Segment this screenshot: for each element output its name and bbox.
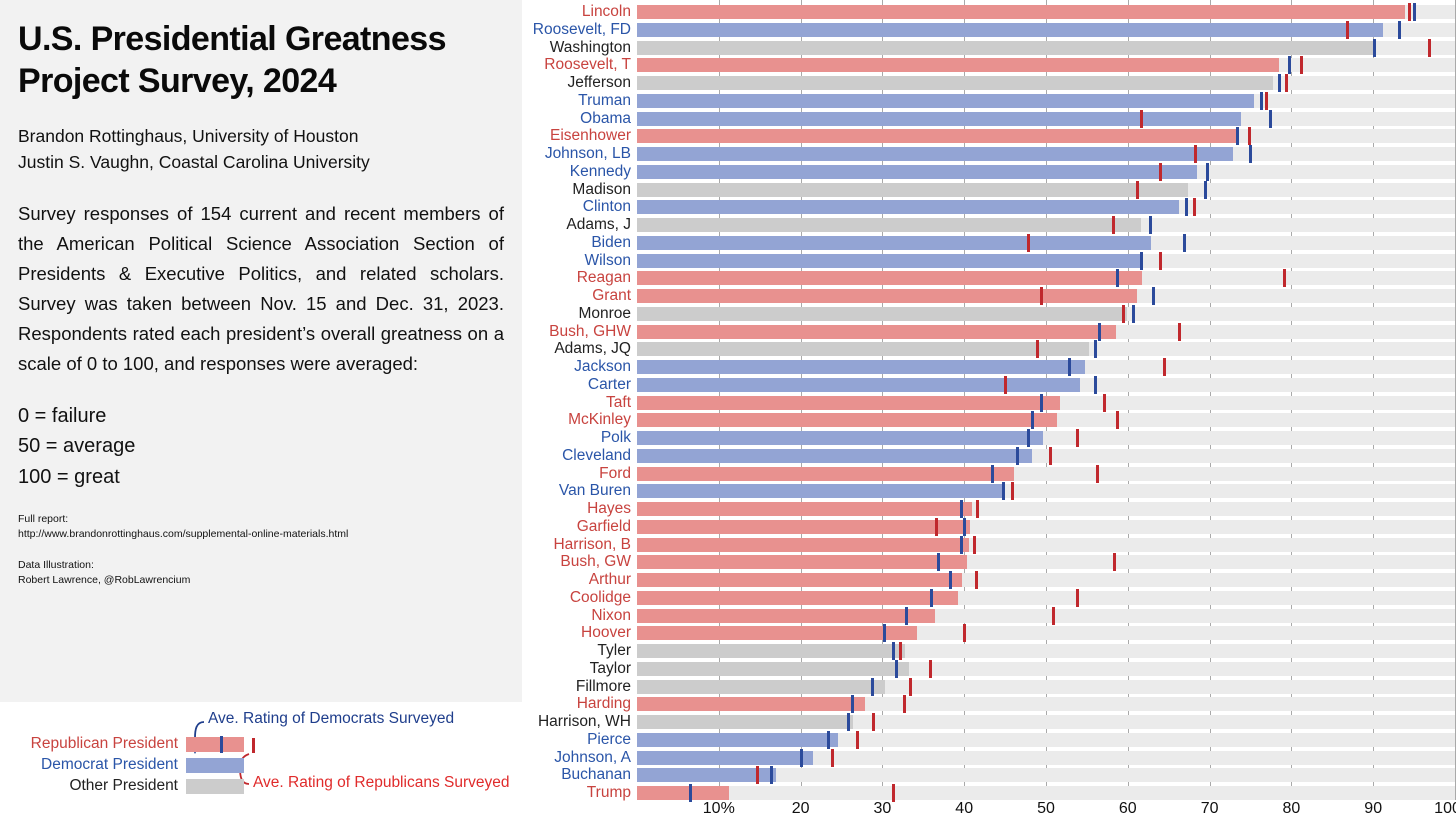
republican-average-tick [976, 500, 979, 518]
democrat-average-tick [1236, 127, 1239, 145]
republican-average-tick [1408, 3, 1411, 21]
x-axis: 10%2030405060708090100 [522, 800, 1456, 819]
overall-rating-bar [637, 715, 853, 729]
table-row[interactable]: Bush, GHW [522, 323, 1456, 341]
democrat-average-tick [1116, 269, 1119, 287]
democrat-average-tick [892, 642, 895, 660]
row-label-adams-j: Adams, J [437, 216, 637, 234]
overall-rating-bar [637, 697, 865, 711]
row-label-hayes: Hayes [437, 500, 637, 518]
overall-rating-bar [637, 431, 1043, 445]
democrat-average-tick [847, 713, 850, 731]
republican-average-tick [1265, 92, 1268, 110]
overall-rating-bar [637, 786, 729, 800]
democrat-average-tick [1031, 411, 1034, 429]
overall-rating-bar [637, 733, 838, 747]
full-report-note: Full report: http://www.brandonrottingha… [18, 512, 504, 542]
overall-rating-bar [637, 609, 935, 623]
row-label-madison: Madison [437, 181, 637, 199]
x-axis-tick-label: 20 [792, 800, 810, 818]
overall-rating-bar [637, 147, 1233, 161]
table-row[interactable]: Polk [522, 429, 1456, 447]
table-row[interactable]: Roosevelt, T [522, 56, 1456, 74]
overall-rating-bar [637, 342, 1089, 356]
overall-rating-bar [637, 680, 885, 694]
row-label-adams-jq: Adams, JQ [437, 340, 637, 358]
republican-average-tick [1076, 429, 1079, 447]
legend-label-republican: Republican President [14, 735, 186, 753]
row-label-nixon: Nixon [437, 607, 637, 625]
row-label-fillmore: Fillmore [437, 678, 637, 696]
overall-rating-bar [637, 218, 1141, 232]
row-label-taylor: Taylor [437, 660, 637, 678]
republican-average-tick [929, 660, 932, 678]
democrat-average-tick [1398, 21, 1401, 39]
democrat-average-tick [1149, 216, 1152, 234]
legend-label-democrat: Democrat President [14, 756, 186, 774]
row-label-bush-ghw: Bush, GHW [437, 323, 637, 341]
democrat-average-tick [1269, 110, 1272, 128]
row-label-johnson-lb: Johnson, LB [437, 145, 637, 163]
overall-rating-bar [637, 58, 1279, 72]
table-row[interactable]: Harding [522, 695, 1456, 713]
overall-rating-bar [637, 751, 813, 765]
row-label-biden: Biden [437, 234, 637, 252]
table-row[interactable]: McKinley [522, 411, 1456, 429]
overall-rating-bar [637, 94, 1254, 108]
row-label-buchanan: Buchanan [437, 766, 637, 784]
democrat-average-tick [883, 624, 886, 642]
scale-item-great: 100 = great [18, 462, 504, 492]
republican-average-tick [1049, 447, 1052, 465]
row-label-truman: Truman [437, 92, 637, 110]
republican-average-tick [1136, 181, 1139, 199]
row-label-obama: Obama [437, 110, 637, 128]
x-axis-tick-label: 90 [1364, 800, 1382, 818]
overall-rating-bar [637, 5, 1405, 19]
table-row[interactable]: Wilson [522, 252, 1456, 270]
illustration-note: Data Illustration: Robert Lawrence, @Rob… [18, 558, 504, 588]
row-label-roosevelt-t: Roosevelt, T [437, 56, 637, 74]
democrat-average-tick [1002, 482, 1005, 500]
republican-average-tick [1122, 305, 1125, 323]
republican-average-tick [1159, 252, 1162, 270]
row-label-pierce: Pierce [437, 731, 637, 749]
overall-rating-bar [637, 307, 1127, 321]
x-axis-tick-label: 10% [703, 800, 735, 818]
row-label-harding: Harding [437, 695, 637, 713]
legend-label-other: Other President [14, 777, 186, 795]
overall-rating-bar [637, 41, 1374, 55]
republican-average-tick [1300, 56, 1303, 74]
democrat-average-tick [1016, 447, 1019, 465]
overall-rating-bar [637, 325, 1116, 339]
overall-rating-bar [637, 289, 1137, 303]
bar-rows: LincolnRoosevelt, FDWashingtonRoosevelt,… [522, 0, 1456, 800]
democrat-average-tick [1027, 429, 1030, 447]
table-row[interactable]: Arthur [522, 571, 1456, 589]
democrat-average-tick [800, 749, 803, 767]
republican-average-tick [1285, 74, 1288, 92]
table-row[interactable]: Cleveland [522, 447, 1456, 465]
row-label-ford: Ford [437, 465, 637, 483]
democrat-average-tick [1132, 305, 1135, 323]
table-row[interactable]: Washington [522, 39, 1456, 57]
republican-average-tick [1103, 394, 1106, 412]
page-title: U.S. Presidential Greatness Project Surv… [18, 18, 504, 102]
legend-annotation-democrats: Ave. Rating of Democrats Surveyed [208, 710, 454, 728]
row-label-mckinley: McKinley [437, 411, 637, 429]
democrat-average-tick [1288, 56, 1291, 74]
overall-rating-bar [637, 555, 967, 569]
republican-average-tick [1159, 163, 1162, 181]
table-row[interactable]: Obama [522, 110, 1456, 128]
democrat-average-tick [871, 678, 874, 696]
legend-swatch-republican [186, 737, 244, 752]
table-row[interactable]: Ford [522, 465, 1456, 483]
table-row[interactable]: Tyler [522, 642, 1456, 660]
overall-rating-bar [637, 413, 1057, 427]
author-line-1: Brandon Rottinghaus, University of Houst… [18, 124, 504, 149]
bar-track [637, 786, 1455, 800]
republican-average-tick [1193, 198, 1196, 216]
scale-item-failure: 0 = failure [18, 401, 504, 431]
overall-rating-bar [637, 23, 1383, 37]
table-row[interactable]: Jefferson [522, 74, 1456, 92]
republican-average-tick [1076, 589, 1079, 607]
row-label-wilson: Wilson [437, 252, 637, 270]
overall-rating-bar [637, 467, 1014, 481]
table-row[interactable]: Taft [522, 394, 1456, 412]
republican-average-tick [1052, 607, 1055, 625]
row-label-washington: Washington [437, 39, 637, 57]
x-axis-tick-label: 70 [1201, 800, 1219, 818]
republican-average-tick [1194, 145, 1197, 163]
republican-average-tick [872, 713, 875, 731]
table-row[interactable]: Garfield [522, 518, 1456, 536]
table-row[interactable]: Eisenhower [522, 127, 1456, 145]
overall-rating-bar [637, 538, 969, 552]
republican-average-tick [1428, 39, 1431, 57]
row-label-monroe: Monroe [437, 305, 637, 323]
plot-area: LincolnRoosevelt, FDWashingtonRoosevelt,… [522, 0, 1456, 800]
table-row[interactable]: Harrison, WH [522, 713, 1456, 731]
overall-rating-bar [637, 484, 1005, 498]
table-row[interactable]: Johnson, LB [522, 145, 1456, 163]
row-label-arthur: Arthur [437, 571, 637, 589]
democrat-average-tick [1094, 340, 1097, 358]
table-row[interactable]: Grant [522, 287, 1456, 305]
democrat-average-tick [1278, 74, 1281, 92]
row-label-tyler: Tyler [437, 642, 637, 660]
democrat-average-tick [905, 607, 908, 625]
table-row[interactable]: Van Buren [522, 482, 1456, 500]
overall-rating-bar [637, 76, 1273, 90]
democrat-average-tick [827, 731, 830, 749]
democrat-average-tick [1249, 145, 1252, 163]
row-label-eisenhower: Eisenhower [437, 127, 637, 145]
republican-average-tick [903, 695, 906, 713]
democrat-average-tick [930, 589, 933, 607]
row-label-jefferson: Jefferson [437, 74, 637, 92]
row-label-garfield: Garfield [437, 518, 637, 536]
table-row[interactable]: Buchanan [522, 766, 1456, 784]
table-row[interactable]: Nixon [522, 607, 1456, 625]
table-row[interactable]: Carter [522, 376, 1456, 394]
republican-average-tick [1248, 127, 1251, 145]
table-row[interactable]: Adams, JQ [522, 340, 1456, 358]
overall-rating-bar [637, 662, 909, 676]
legend-item-republican[interactable]: Republican President [14, 735, 264, 753]
republican-average-tick [831, 749, 834, 767]
republican-average-tick [973, 536, 976, 554]
table-row[interactable]: Madison [522, 181, 1456, 199]
table-row[interactable]: Harrison, B [522, 536, 1456, 554]
republican-average-tick [1140, 110, 1143, 128]
democrat-average-tick [937, 553, 940, 571]
overall-rating-bar [637, 626, 917, 640]
table-row[interactable]: Bush, GW [522, 553, 1456, 571]
author-line-2: Justin S. Vaughn, Coastal Carolina Unive… [18, 150, 504, 175]
row-label-carter: Carter [437, 376, 637, 394]
table-row[interactable]: Roosevelt, FD [522, 21, 1456, 39]
democrat-average-tick [1068, 358, 1071, 376]
republican-average-tick [899, 642, 902, 660]
row-label-harrison-wh: Harrison, WH [437, 713, 637, 731]
row-label-jackson: Jackson [437, 358, 637, 376]
democrat-average-tick [1098, 323, 1101, 341]
table-row[interactable]: Pierce [522, 731, 1456, 749]
republican-average-tick [1011, 482, 1014, 500]
overall-rating-bar [637, 591, 958, 605]
republican-average-tick [1113, 553, 1116, 571]
democrat-average-tick [851, 695, 854, 713]
democrat-average-tick [991, 465, 994, 483]
legend-swatch-rows: Republican President Democrat President … [14, 735, 264, 798]
republican-average-tick [1112, 216, 1115, 234]
republican-average-tick [1036, 340, 1039, 358]
republican-average-tick [975, 571, 978, 589]
democrat-average-tick [1260, 92, 1263, 110]
overall-rating-bar [637, 502, 972, 516]
overall-rating-bar [637, 396, 1060, 410]
democrat-average-tick [949, 571, 952, 589]
legend-item-other[interactable]: Other President [14, 777, 264, 795]
x-axis-tick-label: 50 [1037, 800, 1055, 818]
row-label-johnson-a: Johnson, A [437, 749, 637, 767]
row-label-bush-gw: Bush, GW [437, 553, 637, 571]
republican-average-tick [1027, 234, 1030, 252]
republican-average-tick [1346, 21, 1349, 39]
row-label-kennedy: Kennedy [437, 163, 637, 181]
overall-rating-bar [637, 378, 1080, 392]
table-row[interactable]: Monroe [522, 305, 1456, 323]
x-axis-tick-label: 40 [955, 800, 973, 818]
democrat-average-tick [1204, 181, 1207, 199]
full-report-label: Full report: [18, 512, 504, 527]
republican-average-tick [856, 731, 859, 749]
republican-average-tick [1178, 323, 1181, 341]
republican-average-tick [935, 518, 938, 536]
democrat-average-tick [1040, 394, 1043, 412]
table-row[interactable]: Lincoln [522, 3, 1456, 21]
overall-rating-bar [637, 200, 1179, 214]
democrat-average-tick [1140, 252, 1143, 270]
democrat-average-tick [770, 766, 773, 784]
full-report-url[interactable]: http://www.brandonrottinghaus.com/supple… [18, 527, 504, 542]
scale-item-average: 50 = average [18, 431, 504, 461]
rating-scale-legend: 0 = failure 50 = average 100 = great [18, 401, 504, 492]
row-label-coolidge: Coolidge [437, 589, 637, 607]
overall-rating-bar [637, 129, 1237, 143]
legend-swatch-other [186, 779, 244, 794]
table-row[interactable]: Hoover [522, 624, 1456, 642]
x-axis-tick-label: 100 [1434, 800, 1456, 818]
overall-rating-bar [637, 520, 970, 534]
table-row[interactable]: Johnson, A [522, 749, 1456, 767]
democrat-average-tick [960, 536, 963, 554]
democrat-average-tick [1206, 163, 1209, 181]
survey-description: Survey responses of 154 current and rece… [18, 199, 504, 379]
x-axis-tick-label: 80 [1282, 800, 1300, 818]
row-label-polk: Polk [437, 429, 637, 447]
row-label-cleveland: Cleveland [437, 447, 637, 465]
democrat-average-tick [1094, 376, 1097, 394]
overall-rating-bar [637, 165, 1197, 179]
overall-rating-bar [637, 236, 1151, 250]
x-axis-tick-label: 30 [873, 800, 891, 818]
overall-rating-bar [637, 644, 905, 658]
republican-average-tick [1283, 269, 1286, 287]
table-row[interactable]: Taylor [522, 660, 1456, 678]
republican-average-tick [1004, 376, 1007, 394]
illustration-label: Data Illustration: [18, 558, 504, 573]
republican-average-tick [1116, 411, 1119, 429]
republican-average-tick [909, 678, 912, 696]
row-label-roosevelt-fd: Roosevelt, FD [437, 21, 637, 39]
overall-rating-bar [637, 449, 1032, 463]
table-row[interactable]: Jackson [522, 358, 1456, 376]
row-label-hoover: Hoover [437, 624, 637, 642]
table-row[interactable]: Reagan [522, 269, 1456, 287]
republican-average-tick [963, 624, 966, 642]
republican-average-tick [756, 766, 759, 784]
democrat-average-tick [1183, 234, 1186, 252]
row-label-reagan: Reagan [437, 269, 637, 287]
legend-democrat-tick-marker [220, 736, 223, 753]
table-row[interactable]: Fillmore [522, 678, 1456, 696]
democrat-average-tick [1413, 3, 1416, 21]
x-axis-tick-label: 60 [1119, 800, 1137, 818]
overall-rating-bar [637, 112, 1241, 126]
democrat-average-tick [895, 660, 898, 678]
row-label-lincoln: Lincoln [437, 3, 637, 21]
table-row[interactable]: Truman [522, 92, 1456, 110]
overall-rating-bar [637, 573, 962, 587]
table-row[interactable]: Kennedy [522, 163, 1456, 181]
democrat-average-tick [1185, 198, 1188, 216]
republican-average-tick [1163, 358, 1166, 376]
table-row[interactable]: Clinton [522, 198, 1456, 216]
table-row[interactable]: Biden [522, 234, 1456, 252]
legend-republican-tick-marker [252, 738, 255, 753]
illustration-credit: Robert Lawrence, @RobLawrencium [18, 573, 504, 588]
democrat-average-tick [963, 518, 966, 536]
overall-rating-bar [637, 183, 1188, 197]
legend-swatch-democrat [186, 758, 244, 773]
republican-average-tick [1040, 287, 1043, 305]
row-label-grant: Grant [437, 287, 637, 305]
authors-block: Brandon Rottinghaus, University of Houst… [18, 124, 504, 175]
row-label-harrison-b: Harrison, B [437, 536, 637, 554]
republican-average-tick [1096, 465, 1099, 483]
row-label-clinton: Clinton [437, 198, 637, 216]
democrat-average-tick [960, 500, 963, 518]
table-row[interactable]: Coolidge [522, 589, 1456, 607]
legend-item-democrat[interactable]: Democrat President [14, 756, 264, 774]
row-label-van-buren: Van Buren [437, 482, 637, 500]
democrat-average-tick [1373, 39, 1376, 57]
overall-rating-bar [637, 254, 1140, 268]
overall-rating-bar [637, 360, 1085, 374]
table-row[interactable]: Adams, J [522, 216, 1456, 234]
democrat-average-tick [1152, 287, 1155, 305]
row-label-taft: Taft [437, 394, 637, 412]
overall-rating-bar [637, 271, 1142, 285]
presidential-greatness-chart: LincolnRoosevelt, FDWashingtonRoosevelt,… [522, 0, 1456, 819]
table-row[interactable]: Hayes [522, 500, 1456, 518]
